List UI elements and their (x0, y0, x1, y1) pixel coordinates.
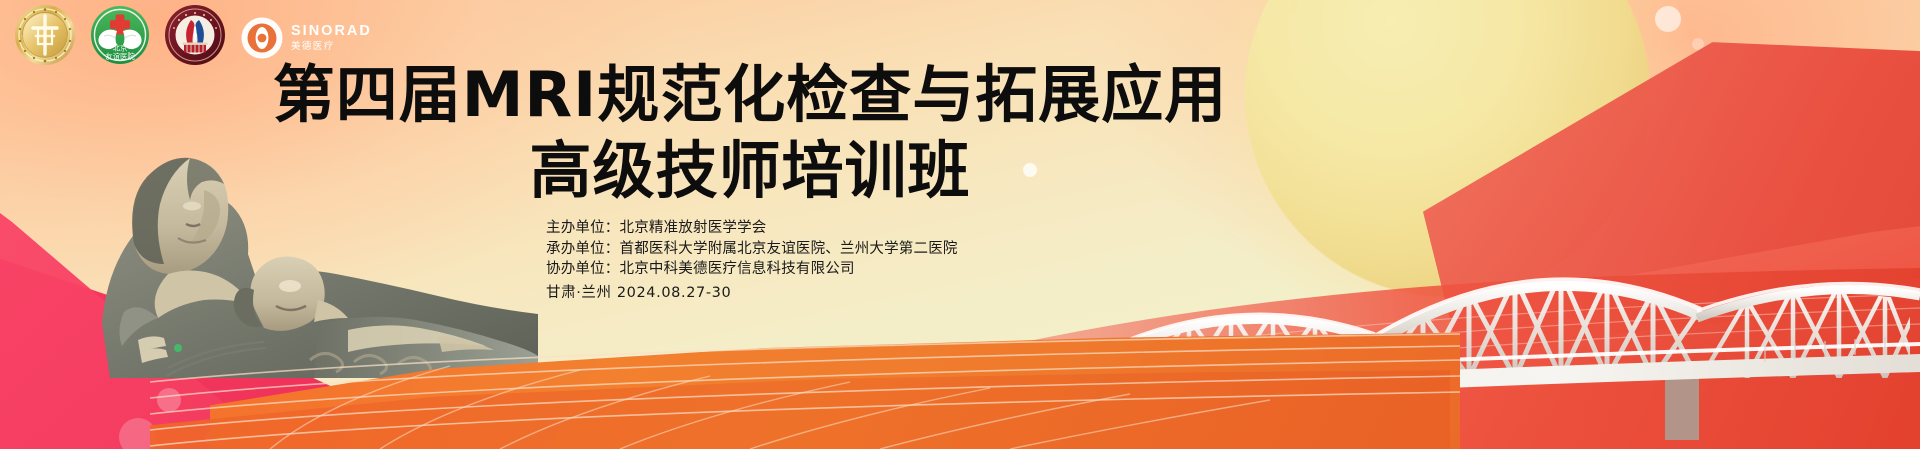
conference-banner: 北京 友谊医院 (0, 0, 1920, 449)
detail-organizer: 主办单位：北京精准放射医学学会 (546, 218, 958, 239)
gold-medallion-logo (14, 4, 76, 71)
wave-striation-lines (150, 330, 1460, 449)
logo-text-line2: 友谊医院 (105, 52, 135, 61)
sinorad-cn-name: 美德医疗 (291, 42, 372, 52)
sinorad-mark-icon (240, 16, 284, 60)
title-line-1: 第四届MRI规范化检查与拓展应用 (0, 64, 1500, 126)
sinorad-name: SINORAD (291, 24, 372, 39)
detail-venue-date: 甘肃·兰州 2024.08.27-30 (546, 283, 958, 304)
dark-red-crest-logo (164, 4, 226, 71)
title-line-2: 高级技师培训班 (0, 140, 1500, 202)
light-spark-icon (1655, 6, 1681, 32)
detail-host: 承办单位：首都医科大学附属北京友谊医院、兰州大学第二医院 (546, 239, 958, 260)
detail-coorganizer: 协办单位：北京中科美德医疗信息科技有限公司 (546, 259, 958, 280)
beijing-friendship-hospital-logo: 北京 友谊医院 (90, 5, 150, 70)
details-block: 主办单位：北京精准放射医学学会 承办单位：首都医科大学附属北京友谊医院、兰州大学… (546, 218, 958, 303)
sinorad-logo: SINORAD 美德医疗 (240, 16, 372, 60)
